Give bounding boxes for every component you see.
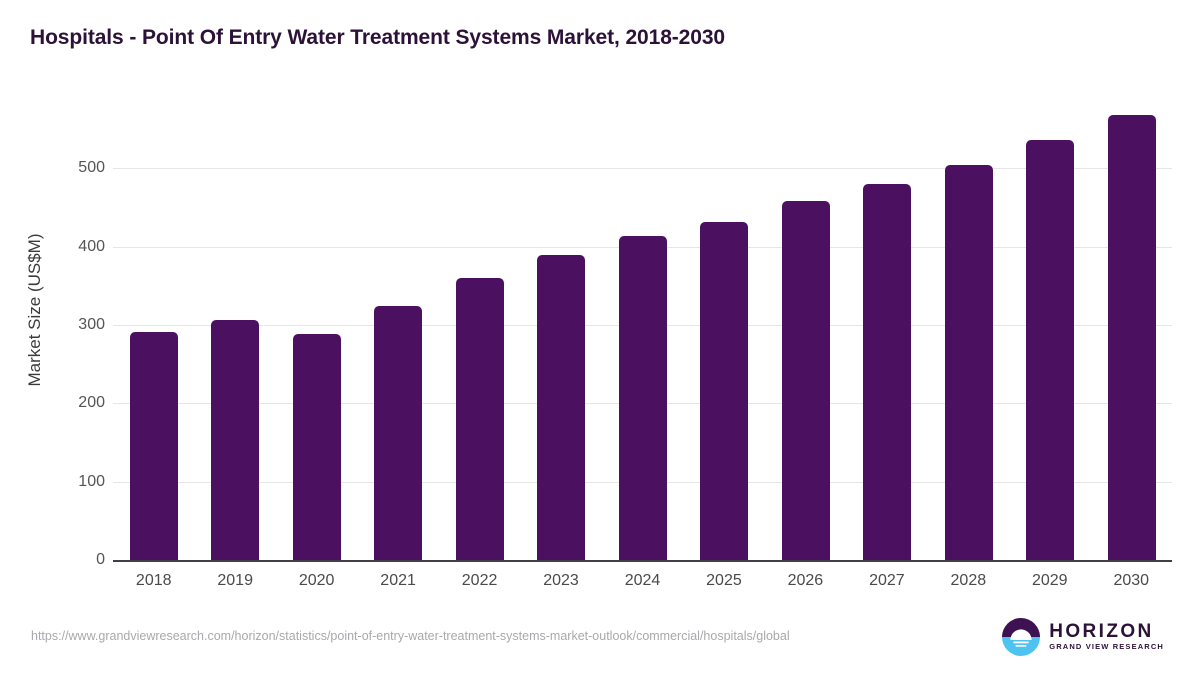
x-axis-tick: 2028 bbox=[928, 572, 1009, 590]
x-axis-tick: 2021 bbox=[357, 572, 438, 590]
y-axis-tick: 200 bbox=[13, 394, 105, 412]
y-axis-tick: 400 bbox=[13, 238, 105, 256]
chart-page: Hospitals - Point Of Entry Water Treatme… bbox=[0, 0, 1200, 675]
x-axis-tick: 2022 bbox=[439, 572, 520, 590]
x-axis-tick: 2027 bbox=[846, 572, 927, 590]
x-axis-tick: 2018 bbox=[113, 572, 194, 590]
x-axis-tick: 2025 bbox=[683, 572, 764, 590]
source-url[interactable]: https://www.grandviewresearch.com/horizo… bbox=[31, 628, 936, 645]
x-axis-tick: 2026 bbox=[765, 572, 846, 590]
y-axis-tick: 0 bbox=[13, 551, 105, 569]
logo-text: HORIZON GRAND VIEW RESEARCH bbox=[1049, 622, 1164, 652]
y-axis-tick-labels: 0100200300400500 bbox=[0, 90, 105, 560]
y-axis-tick: 500 bbox=[13, 159, 105, 177]
logo-name: HORIZON bbox=[1049, 622, 1164, 642]
y-axis-tick: 100 bbox=[13, 473, 105, 491]
x-axis-tick: 2020 bbox=[276, 572, 357, 590]
horizon-logo-icon bbox=[1002, 618, 1040, 656]
x-axis-tick: 2023 bbox=[520, 572, 601, 590]
x-axis-tick: 2029 bbox=[1009, 572, 1090, 590]
y-axis-tick: 300 bbox=[13, 316, 105, 334]
x-axis-tick: 2024 bbox=[602, 572, 683, 590]
logo-tagline: GRAND VIEW RESEARCH bbox=[1049, 642, 1164, 652]
x-axis-tick: 2019 bbox=[194, 572, 275, 590]
horizon-logo: HORIZON GRAND VIEW RESEARCH bbox=[1002, 618, 1164, 656]
x-axis-tick-labels: 2018201920202021202220232024202520262027… bbox=[113, 0, 1172, 675]
x-axis-tick: 2030 bbox=[1091, 572, 1172, 590]
